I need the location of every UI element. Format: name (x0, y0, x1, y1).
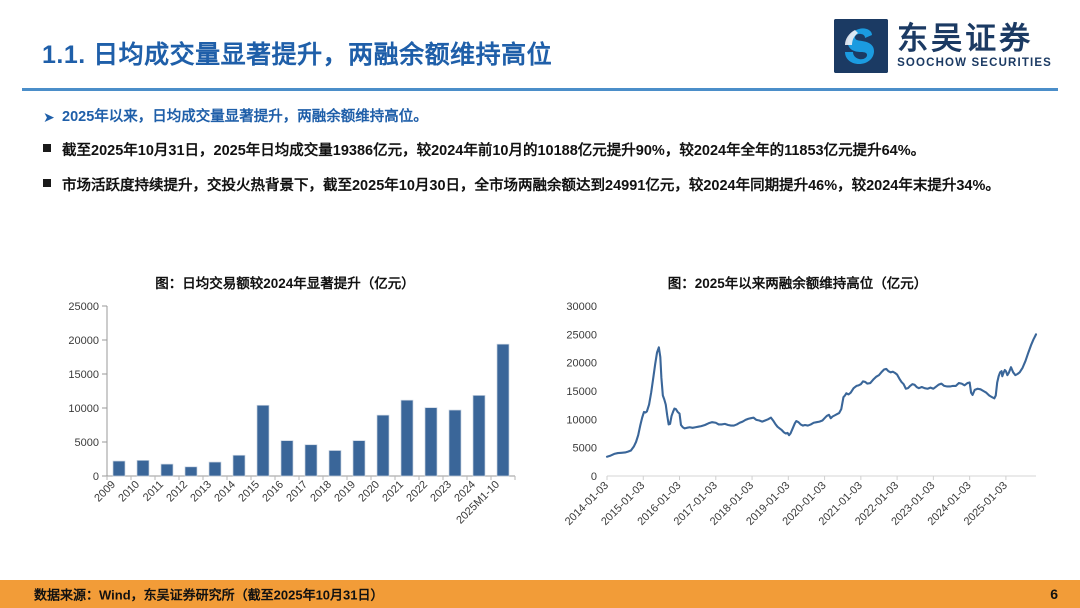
bar-2021 (401, 400, 413, 476)
y-axis-tick-label: 20000 (68, 335, 99, 347)
bar-2017 (305, 445, 317, 476)
y-axis-tick-label: 20000 (566, 358, 597, 370)
chart-margin-balance: 图：2025年以来两融余额维持高位（亿元） 050001000015000200… (545, 272, 1050, 567)
y-axis-tick-label: 10000 (68, 403, 99, 415)
bar-2019 (353, 441, 365, 476)
bar-2013 (209, 462, 221, 476)
logo-chinese-name: 东吴证券 (897, 23, 1052, 54)
x-axis-label-2022: 2022 (404, 479, 430, 505)
arrow-bullet-icon: ➤ (40, 108, 62, 127)
x-axis-label-2014: 2014 (212, 479, 238, 505)
y-axis-tick-label: 25000 (68, 301, 99, 313)
x-axis-label-2017: 2017 (284, 479, 310, 505)
soochow-logo-mark-icon (834, 19, 888, 73)
y-axis-tick-label: 5000 (75, 437, 99, 449)
x-axis-label-2023: 2023 (428, 479, 454, 505)
logo-english-name: SOOCHOW SECURITIES (897, 58, 1052, 70)
bullet-item-1: ➤ 2025年以来，日均成交量显著提升，两融余额维持高位。 (40, 108, 1050, 127)
y-axis-tick-label: 25000 (566, 329, 597, 341)
bar-2024 (473, 395, 485, 476)
slide-root: 1.1. 日均成交量显著提升，两融余额维持高位 东吴证券 SOOCHOW SEC… (0, 0, 1080, 608)
y-axis-tick-label: 0 (93, 471, 99, 483)
x-axis-label-2010: 2010 (116, 479, 142, 505)
footer-source-text: 数据来源：Wind，东吴证券研究所（截至2025年10月31日） (34, 585, 384, 604)
line-chart-canvas: 0500010000150002000025000300002014-01-03… (545, 294, 1050, 562)
y-axis-tick-label: 10000 (566, 414, 597, 426)
x-axis-label-2016: 2016 (260, 479, 286, 505)
bullet-item-3: 市场活跃度持续提升，交投火热背景下，截至2025年10月30日，全市场两融余额达… (40, 174, 1050, 199)
bullet-text-2: 截至2025年10月31日，2025年日均成交量19386亿元，较2024年前1… (62, 139, 1047, 164)
bar-2018 (329, 451, 341, 477)
x-axis-label-2021: 2021 (380, 479, 406, 505)
x-axis-label-2013: 2013 (188, 479, 214, 505)
bullet-text-1: 2025年以来，日均成交量显著提升，两融余额维持高位。 (62, 108, 428, 127)
square-bullet-icon (40, 174, 62, 193)
slide-header: 1.1. 日均成交量显著提升，两融余额维持高位 东吴证券 SOOCHOW SEC… (0, 0, 1080, 92)
bar-2025M1-10 (497, 344, 509, 476)
chart-title-right: 图：2025年以来两融余额维持高位（亿元） (545, 272, 1050, 292)
bar-2014 (233, 455, 245, 476)
header-divider (22, 88, 1058, 91)
bar-2020 (377, 415, 389, 476)
footer-page-number: 6 (1050, 586, 1058, 602)
x-axis-label-2011: 2011 (141, 479, 166, 504)
bar-2010 (137, 460, 149, 476)
logo-text: 东吴证券 SOOCHOW SECURITIES (897, 23, 1052, 70)
x-axis-label-2012: 2012 (164, 479, 190, 505)
chart-avg-daily-turnover: 图：日均交易额较2024年显著提升（亿元） 050001000015000200… (45, 272, 525, 567)
x-axis-label-2018: 2018 (308, 479, 334, 505)
bar-2009 (113, 461, 125, 476)
bar-2011 (161, 464, 173, 476)
y-axis-tick-label: 5000 (573, 443, 597, 455)
x-axis-label-2020: 2020 (356, 479, 382, 505)
bullet-list: ➤ 2025年以来，日均成交量显著提升，两融余额维持高位。 截至2025年10月… (40, 108, 1050, 199)
bar-2016 (281, 441, 293, 476)
bullet-text-3: 市场活跃度持续提升，交投火热背景下，截至2025年10月30日，全市场两融余额达… (62, 174, 1047, 199)
bar-2015 (257, 405, 269, 476)
chart-title-left: 图：日均交易额较2024年显著提升（亿元） (45, 272, 525, 292)
bar-chart-canvas: 0500010000150002000025000200920102011201… (45, 294, 525, 562)
line-series-margin-balance (607, 334, 1036, 456)
y-axis-tick-label: 15000 (68, 369, 99, 381)
bar-2012 (185, 467, 197, 476)
bar-2023 (449, 410, 461, 476)
y-axis-tick-label: 30000 (566, 301, 597, 313)
x-axis-label-2019: 2019 (332, 479, 358, 505)
page-title: 1.1. 日均成交量显著提升，两融余额维持高位 (42, 35, 552, 71)
bar-2022 (425, 408, 437, 476)
y-axis-tick-label: 0 (591, 471, 597, 483)
square-bullet-icon (40, 139, 62, 158)
x-axis-label-2015: 2015 (236, 479, 262, 505)
slide-footer: 数据来源：Wind，东吴证券研究所（截至2025年10月31日） 6 (0, 580, 1080, 608)
company-logo: 东吴证券 SOOCHOW SECURITIES (834, 19, 1052, 73)
y-axis-tick-label: 15000 (566, 386, 597, 398)
bullet-item-2: 截至2025年10月31日，2025年日均成交量19386亿元，较2024年前1… (40, 139, 1050, 164)
